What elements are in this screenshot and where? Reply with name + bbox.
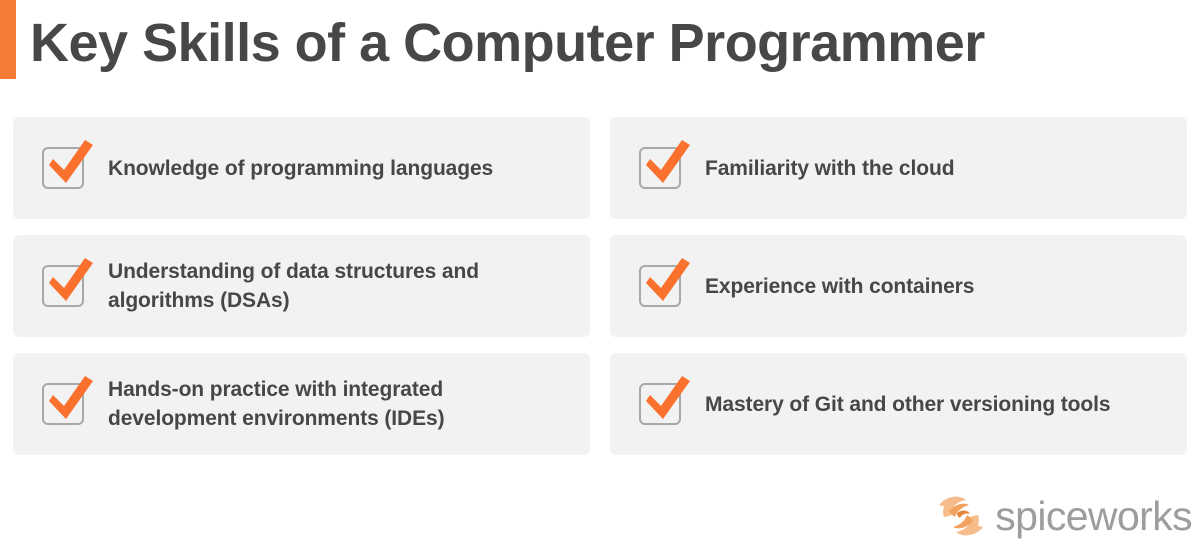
skill-label: Familiarity with the cloud (705, 154, 954, 183)
spiceworks-wordmark: spiceworks (995, 494, 1192, 538)
skill-label: Experience with containers (705, 272, 974, 301)
check-mark-icon (638, 253, 696, 311)
skill-label: Knowledge of programming languages (108, 154, 493, 183)
skill-label: Understanding of data structures and alg… (108, 257, 574, 315)
skill-card[interactable]: Understanding of data structures and alg… (13, 235, 590, 337)
skill-label: Mastery of Git and other versioning tool… (705, 390, 1110, 419)
checkbox-checked-icon (639, 263, 685, 309)
check-mark-icon (41, 253, 99, 311)
checkbox-checked-icon (42, 145, 88, 191)
skill-label: Hands-on practice with integrated develo… (108, 375, 574, 433)
check-mark-icon (638, 371, 696, 429)
spiceworks-pinwheel-icon (935, 491, 987, 541)
skill-card[interactable]: Mastery of Git and other versioning tool… (610, 353, 1187, 455)
title-accent-bar (0, 0, 16, 79)
checkbox-checked-icon (639, 145, 685, 191)
skill-card[interactable]: Knowledge of programming languages (13, 117, 590, 219)
infographic-canvas: Key Skills of a Computer Programmer Know… (0, 0, 1200, 555)
skill-card[interactable]: Familiarity with the cloud (610, 117, 1187, 219)
skills-grid: Knowledge of programming languages Famil… (13, 117, 1187, 455)
skill-card[interactable]: Hands-on practice with integrated develo… (13, 353, 590, 455)
checkbox-checked-icon (639, 381, 685, 427)
skill-card[interactable]: Experience with containers (610, 235, 1187, 337)
checkbox-checked-icon (42, 263, 88, 309)
checkbox-checked-icon (42, 381, 88, 427)
check-mark-icon (638, 135, 696, 193)
page-title: Key Skills of a Computer Programmer (30, 12, 985, 74)
spiceworks-logo[interactable]: spiceworks (935, 489, 1192, 543)
title-row: Key Skills of a Computer Programmer (0, 0, 1200, 100)
check-mark-icon (41, 371, 99, 429)
check-mark-icon (41, 135, 99, 193)
